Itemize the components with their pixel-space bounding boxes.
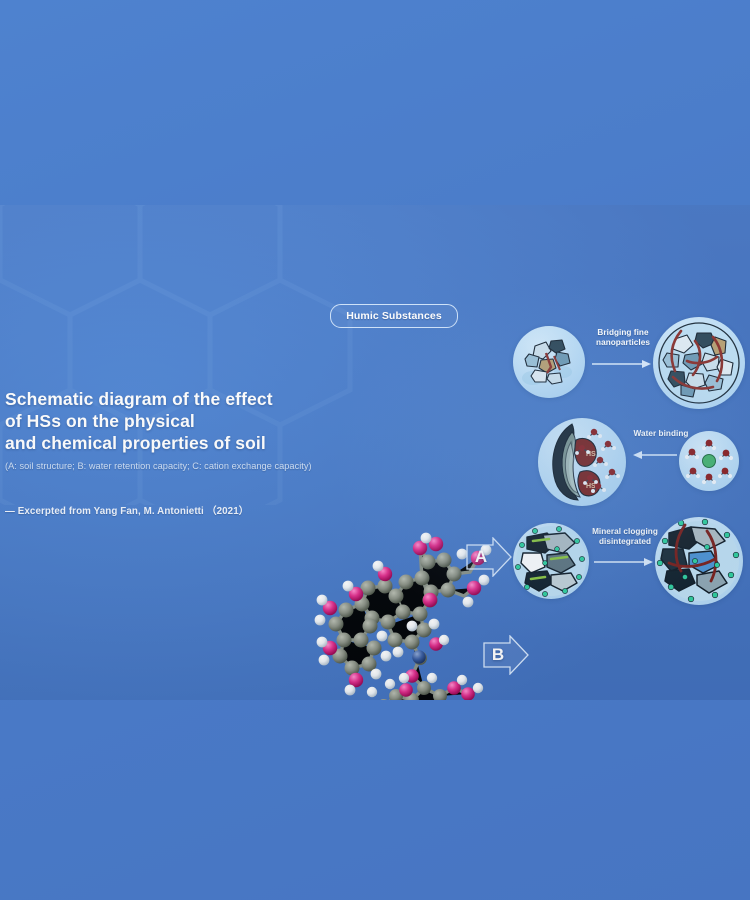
carbon-atoms [329, 553, 474, 701]
title-line-1: Schematic diagram of the effect [5, 389, 273, 409]
step-arrow-a[interactable]: A [466, 537, 512, 577]
circle-soil-aggregate-bridged [653, 317, 745, 409]
figure-panel: A Bridging fine nanopartic [0, 205, 750, 700]
title-line-3: and chemical properties of soil [5, 433, 266, 453]
flow-arrow-a [592, 357, 652, 375]
source-attribution: — Excerpted from Yang Fan, M. Antonietti… [5, 503, 345, 517]
cation-core [703, 455, 716, 468]
page-background: A Bridging fine nanopartic [0, 0, 750, 900]
hydrogen-atoms [315, 533, 492, 700]
title-line-2: of HSs on the physical [5, 411, 195, 431]
nitrogen-atom [412, 650, 426, 664]
humic-substances-chip: Humic Substances [330, 304, 458, 328]
circle-disintegrated-aggregate [655, 517, 743, 605]
circle-humic-water-retention: HS HS [538, 418, 626, 506]
flow-arrow-c [594, 555, 654, 573]
caption-bridging-fine-nanoparticles: Bridging fine nanoparticles [592, 328, 654, 348]
step-letter-a: A [469, 537, 493, 577]
circle-hydrated-cation [679, 431, 739, 491]
title-subtitle: (A: soil structure; B: water retention c… [5, 460, 345, 472]
page-title: Schematic diagram of the effect of HSs o… [5, 388, 345, 454]
step-letter-b: B [486, 635, 510, 675]
text-block: Schematic diagram of the effect of HSs o… [5, 388, 345, 517]
flow-arrow-b [633, 448, 677, 466]
step-arrow-b[interactable]: B [483, 635, 529, 675]
caption-mineral-clogging-disintegrated: Mineral clogging disintegrated [592, 527, 658, 547]
circle-soil-nanoparticles-loose [513, 326, 585, 398]
oxygen-atoms [323, 537, 485, 700]
circle-mineral-clogged-aggregate [513, 523, 589, 599]
